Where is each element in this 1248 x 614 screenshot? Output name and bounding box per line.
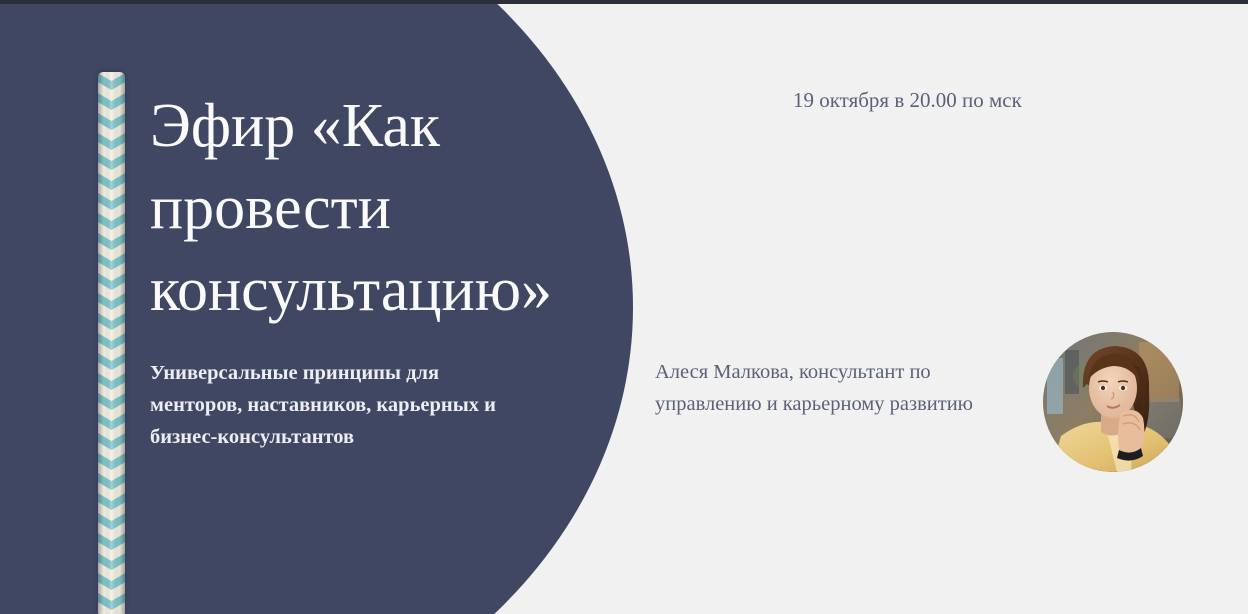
slide-subtitle: Универсальные принципы для менторов, нас… — [150, 357, 510, 453]
left-text-column: Эфир «Как провести консультацию» Универс… — [150, 0, 650, 614]
avatar — [1043, 332, 1183, 472]
event-date-text: 19 октября в 20.00 по мск — [793, 85, 1022, 115]
speaker-description-text: Алеся Малкова, консультант по управлению… — [655, 356, 1025, 420]
page-title: Эфир «Как провести консультацию» — [150, 85, 650, 331]
presentation-slide: Эфир «Как провести консультацию» Универс… — [0, 0, 1248, 614]
top-edge-bar — [0, 0, 1248, 4]
chevron-striped-straw-icon — [98, 72, 125, 614]
